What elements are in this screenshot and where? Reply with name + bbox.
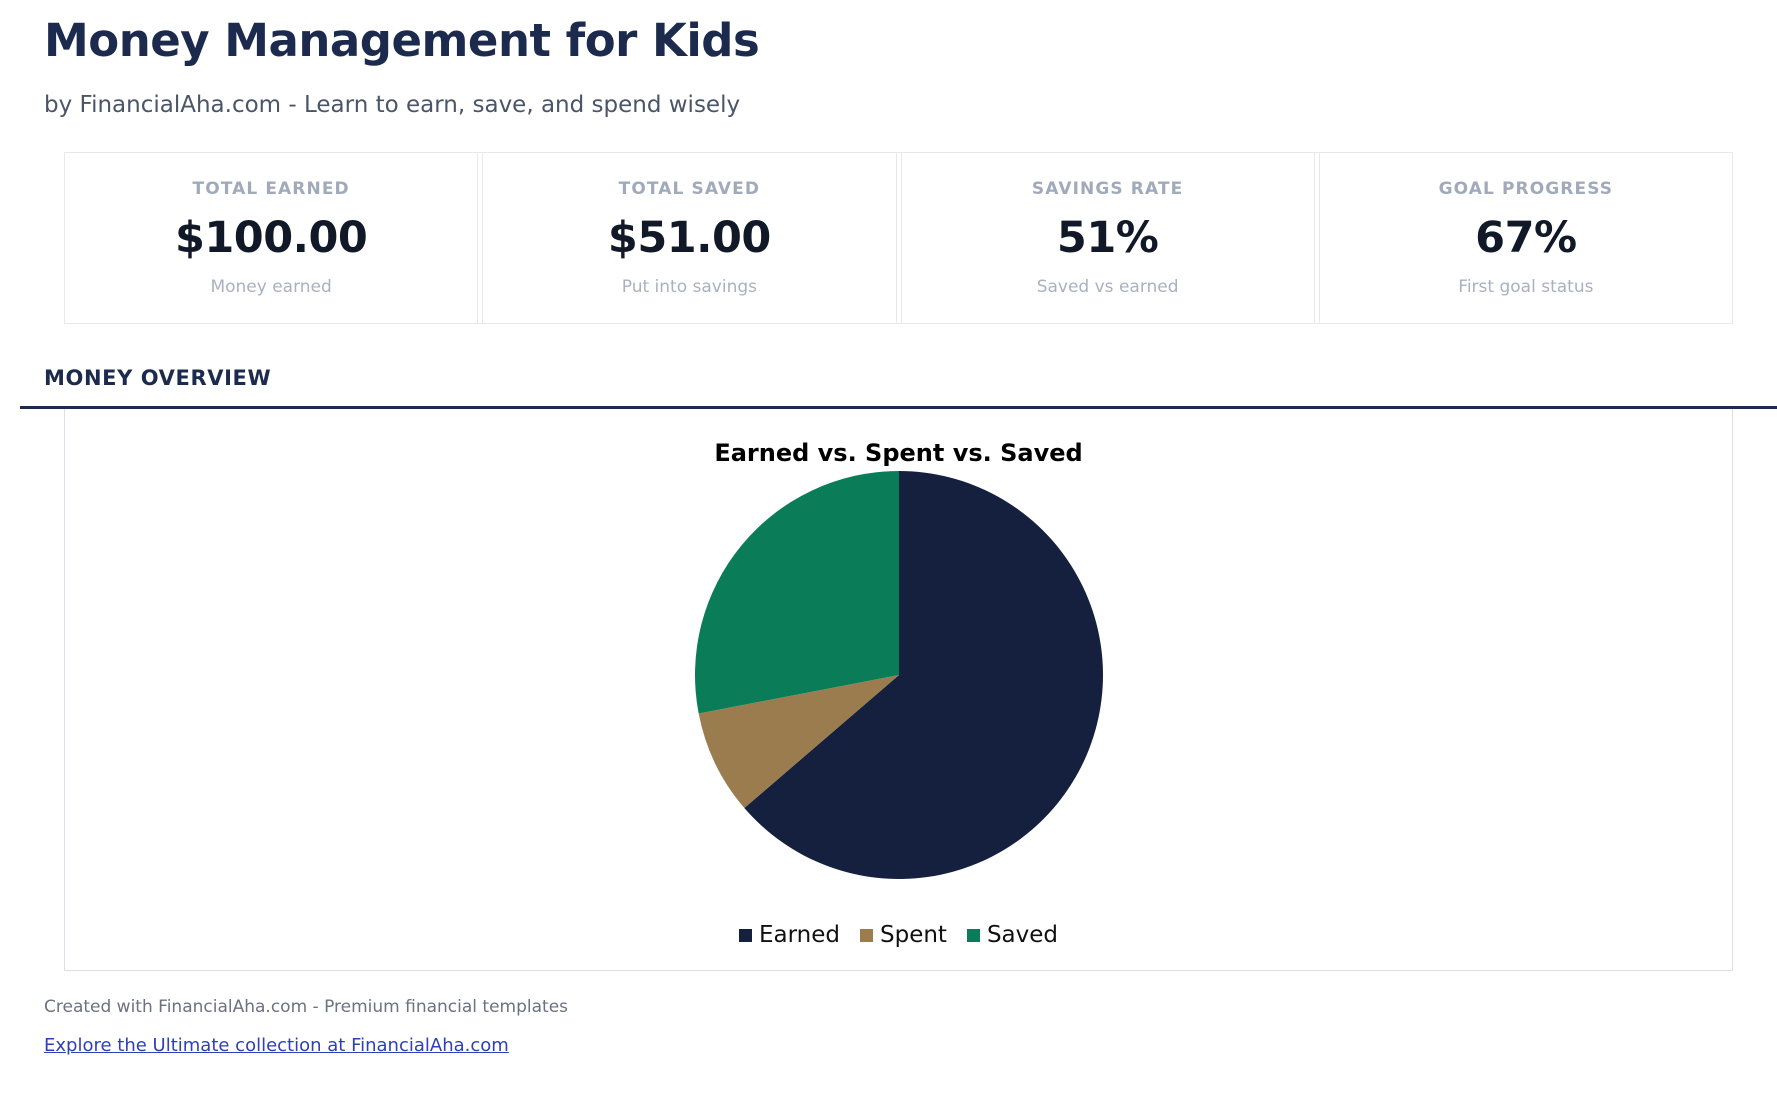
footer-note: Created with FinancialAha.com - Premium … [44,997,1733,1017]
kpi-value: $51.00 [608,213,771,263]
legend-swatch-icon [860,929,873,942]
kpi-card-savings-rate: SAVINGS RATE 51% Saved vs earned [901,153,1315,323]
pie-chart [65,469,1732,889]
kpi-value: $100.00 [175,213,367,263]
kpi-card-total-earned: TOTAL EARNED $100.00 Money earned [64,153,478,323]
kpi-caption: Saved vs earned [1037,277,1179,297]
kpi-label: SAVINGS RATE [1032,179,1183,199]
kpi-card-goal-progress: GOAL PROGRESS 67% First goal status [1319,153,1733,323]
kpi-label: GOAL PROGRESS [1439,179,1614,199]
chart-card-money-overview: Earned vs. Spent vs. Saved EarnedSpentSa… [64,409,1733,971]
kpi-label: TOTAL SAVED [619,179,760,199]
kpi-value: 51% [1057,213,1158,263]
kpi-value: 67% [1475,213,1576,263]
footer-link[interactable]: Explore the Ultimate collection at Finan… [44,1035,509,1056]
legend-swatch-icon [967,929,980,942]
kpi-caption: Money earned [210,277,331,297]
kpi-label: TOTAL EARNED [193,179,350,199]
section-title-money-overview: MONEY OVERVIEW [44,324,1733,390]
legend-label: Spent [880,922,947,948]
dashboard-page: Money Management for Kids by FinancialAh… [0,0,1777,1116]
legend-swatch-icon [739,929,752,942]
legend-label: Earned [759,922,840,948]
chart-legend: EarnedSpentSaved [65,922,1732,948]
pie-slice-saved [694,471,898,714]
kpi-caption: Put into savings [622,277,757,297]
kpi-strip: TOTAL EARNED $100.00 Money earned TOTAL … [64,152,1733,324]
legend-item-earned[interactable]: Earned [739,922,840,948]
footer: Created with FinancialAha.com - Premium … [44,971,1733,1056]
legend-item-spent[interactable]: Spent [860,922,947,948]
page-subtitle: by FinancialAha.com - Learn to earn, sav… [44,70,1733,120]
legend-item-saved[interactable]: Saved [967,922,1058,948]
kpi-caption: First goal status [1458,277,1593,297]
pie-chart-svg [693,469,1105,881]
chart-title: Earned vs. Spent vs. Saved [65,409,1732,467]
kpi-card-total-saved: TOTAL SAVED $51.00 Put into savings [482,153,896,323]
legend-label: Saved [987,922,1058,948]
page-title: Money Management for Kids [44,0,1733,70]
